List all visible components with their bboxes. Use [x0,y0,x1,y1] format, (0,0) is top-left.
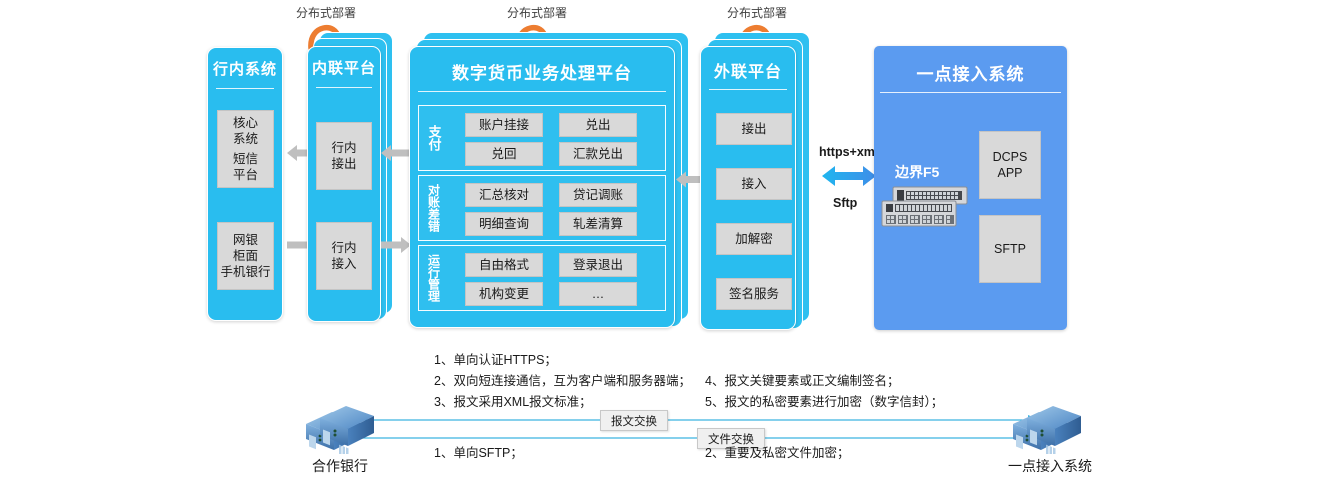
box-ebank-counter-mobile[interactable]: 网银 柜面 手机银行 [217,222,274,290]
item-credit-adjust[interactable]: 贷记调账 [559,183,637,207]
item-exchange-back-label: 兑回 [491,146,516,162]
item-summary-check-label: 汇总核对 [479,187,529,203]
arrow-left-intranet-out [381,145,411,166]
panel-external-platform-title: 外联平台 [701,58,795,82]
box-core-system[interactable]: 核心 系统 短信 平台 [217,110,274,188]
arrow-bidir-https-sftp [822,165,876,192]
item-exchange-out-label: 兑出 [585,117,610,133]
box-signature-service-label: 签名服务 [729,286,779,302]
item-free-format[interactable]: 自由格式 [465,253,543,277]
box-external-in-label: 接入 [741,176,766,192]
box-signature-service[interactable]: 签名服务 [716,278,792,310]
box-ebank-line-2: 柜面 [233,248,258,264]
file-note-2: 2、重要及私密文件加密； [705,443,849,464]
item-exchange-back[interactable]: 兑回 [465,142,543,166]
box-dcps-app[interactable]: DCPS APP [979,131,1041,199]
panel-access-system-title: 一点接入系统 [874,60,1067,85]
item-account-link-label: 账户挂接 [479,117,529,133]
box-intranet-out-line-1: 行内 [331,140,356,156]
group-operations-label: 运行管理 [424,248,444,308]
server-label-partner-bank: 合作银行 [294,456,386,476]
box-dcps-app-line-1: DCPS [993,149,1028,165]
item-login-logout-label: 登录退出 [573,257,623,273]
server-icon-access-system [1005,400,1087,459]
item-detail-query-label: 明细查询 [479,216,529,232]
box-dcps-app-line-2: APP [997,165,1022,181]
item-netting-settlement[interactable]: 轧差清算 [559,212,637,236]
group-reconciliation-label: 对账差错 [424,178,444,238]
f5-boundary-label: 边界F5 [895,162,939,182]
box-external-out-label: 接出 [741,121,766,137]
exchange-box-message-label: 报文交换 [611,413,657,429]
message-note-1: 1、单向认证HTTPS； [434,350,691,371]
panel-dcep-platform-title: 数字货币业务处理平台 [410,59,674,84]
item-summary-check[interactable]: 汇总核对 [465,183,543,207]
box-ebank-line-1: 网银 [233,232,258,248]
box-intranet-in-line-2: 接入 [331,256,356,272]
message-note-4: 4、报文关键要素或正文编制签名； [705,371,943,392]
box-core-system-line-1: 核心 [233,115,258,131]
item-more[interactable]: … [559,282,637,306]
box-core-system-line-2: 系统 [233,131,258,147]
item-netting-settlement-label: 轧差清算 [573,216,623,232]
file-notes-right: 2、重要及私密文件加密； [705,443,849,464]
file-note-1: 1、单向SFTP； [434,443,523,464]
box-encrypt-decrypt-label: 加解密 [735,231,773,247]
panel-intranet-platform-title: 内联平台 [308,57,380,78]
item-free-format-label: 自由格式 [479,257,529,273]
server-label-access-system: 一点接入系统 [995,456,1105,476]
panel-intra-system-title: 行内系统 [208,58,282,79]
group-payment-label: 支付 [424,110,444,166]
item-org-change[interactable]: 机构变更 [465,282,543,306]
item-account-link[interactable]: 账户挂接 [465,113,543,137]
box-intranet-out[interactable]: 行内 接出 [316,122,372,190]
item-more-label: … [592,286,605,302]
box-sms-platform-line-2: 平台 [233,167,258,183]
item-detail-query[interactable]: 明细查询 [465,212,543,236]
server-icon-partner-bank [298,400,380,459]
box-encrypt-decrypt[interactable]: 加解密 [716,223,792,255]
item-remittance-out-label: 汇款兑出 [573,146,623,162]
message-note-2: 2、双向短连接通信，互为客户端和服务器端； [434,371,691,392]
box-intranet-in[interactable]: 行内 接入 [316,222,372,290]
box-intranet-out-line-2: 接出 [331,156,356,172]
box-external-in[interactable]: 接入 [716,168,792,200]
file-notes-left: 1、单向SFTP； [434,443,523,464]
box-ebank-line-3: 手机银行 [220,264,270,280]
box-external-out[interactable]: 接出 [716,113,792,145]
message-notes-right: 4、报文关键要素或正文编制签名； 5、报文的私密要素进行加密（数字信封）； [705,371,943,413]
item-remittance-out[interactable]: 汇款兑出 [559,142,637,166]
f5-switch-icon [881,186,969,233]
item-org-change-label: 机构变更 [479,286,529,302]
message-notes-left: 1、单向认证HTTPS； 2、双向短连接通信，互为客户端和服务器端； 3、报文采… [434,350,691,413]
link-label-sftp: Sftp [833,196,857,210]
link-label-https-xml: https+xml [819,145,878,159]
box-sms-platform-line-1: 短信 [233,151,258,167]
connector-message-exchange [340,413,1040,432]
arrow-right-intranet-in [381,237,411,258]
box-sftp[interactable]: SFTP [979,215,1041,283]
item-login-logout[interactable]: 登录退出 [559,253,637,277]
message-note-5: 5、报文的私密要素进行加密（数字信封）； [705,392,943,413]
item-credit-adjust-label: 贷记调账 [573,187,623,203]
box-sftp-line-1: SFTP [994,241,1026,257]
box-intranet-in-line-1: 行内 [331,240,356,256]
exchange-box-message[interactable]: 报文交换 [600,410,668,431]
item-exchange-out[interactable]: 兑出 [559,113,637,137]
